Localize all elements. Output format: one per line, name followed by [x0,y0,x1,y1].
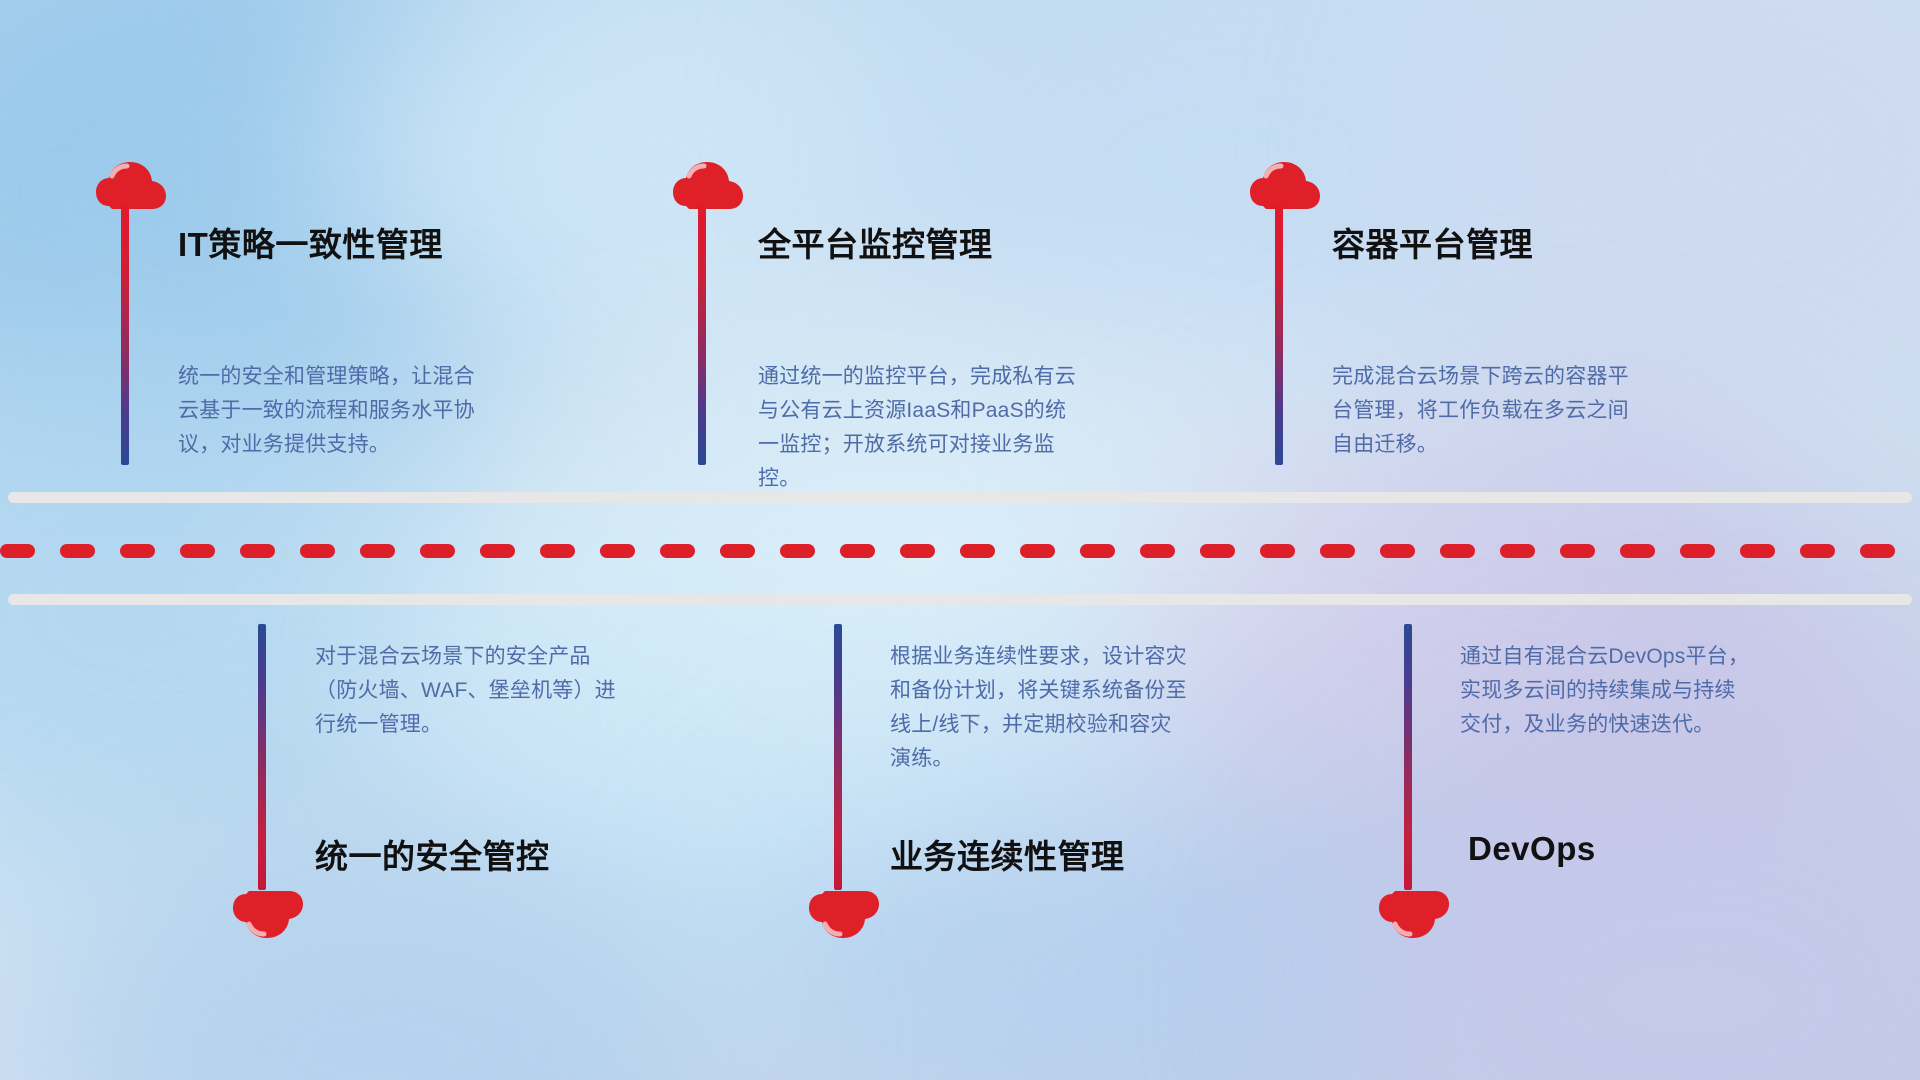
column-stem [834,624,842,890]
cloud-shape [1378,888,1450,940]
road-dash [60,544,95,558]
cloud-shape [95,160,167,212]
column-stem [258,624,266,890]
road-dash [1860,544,1895,558]
column-title: IT策略一致性管理 [178,218,443,266]
road-dash [1380,544,1415,558]
road-dash [660,544,695,558]
road-dash [1800,544,1835,558]
road-dash [1680,544,1715,558]
road-edge-top [8,492,1912,503]
cloud-shape [1249,160,1321,212]
column-body-text: 对于混合云场景下的安全产品 （防火墙、WAF、堡垒机等）进 行统一管理。 [315,640,645,742]
road-dash [1080,544,1115,558]
road-dash [900,544,935,558]
column-title: 容器平台管理 [1332,218,1533,266]
road-dash [300,544,335,558]
road-dash [720,544,755,558]
column-stem [1404,624,1412,890]
road-edge-bottom [8,594,1912,605]
road-dash [360,544,395,558]
road-dash [1560,544,1595,558]
road-dash [960,544,995,558]
column-body-text: 完成混合云场景下跨云的容器平 台管理，将工作负载在多云之间 自由迁移。 [1332,360,1662,462]
road-dash [1500,544,1535,558]
road-dash [1200,544,1235,558]
road-dash [1440,544,1475,558]
column-body-text: 通过统一的监控平台，完成私有云 与公有云上资源IaaS和PaaS的统 一监控；开… [758,360,1088,496]
road-dash [1020,544,1055,558]
column-title: 统一的安全管控 [315,830,550,878]
road-dash [1320,544,1355,558]
cloud-shape [808,888,880,940]
column-stem [121,205,129,465]
road-dash [600,544,635,558]
column-stem [698,205,706,465]
road-dash [1260,544,1295,558]
infographic-canvas: IT策略一致性管理 统一的安全和管理策略，让混合 云基于一致的流程和服务水平协 … [0,0,1920,1080]
column-title: 业务连续性管理 [890,830,1125,878]
road-dash [780,544,815,558]
column-body-text: 统一的安全和管理策略，让混合 云基于一致的流程和服务水平协 议，对业务提供支持。 [178,360,508,462]
column-body-text: 根据业务连续性要求，设计容灾 和备份计划，将关键系统备份至 线上/线下，并定期校… [890,640,1220,776]
road-dash [240,544,275,558]
column-title: DevOps [1468,830,1596,868]
road-dash [540,544,575,558]
road-dash [840,544,875,558]
road-dash [0,544,35,558]
column-title: 全平台监控管理 [758,218,993,266]
column-body-text: 通过自有混合云DevOps平台， 实现多云间的持续集成与持续 交付，及业务的快速… [1460,640,1790,742]
cloud-shape [672,160,744,212]
road-dash [1620,544,1655,558]
column-stem [1275,205,1283,465]
road-dash [480,544,515,558]
road-dash [420,544,455,558]
road-dash [180,544,215,558]
road-center-dashes [0,544,1920,558]
road-dash [120,544,155,558]
cloud-shape [232,888,304,940]
road-dash [1740,544,1775,558]
road-dash [1140,544,1175,558]
